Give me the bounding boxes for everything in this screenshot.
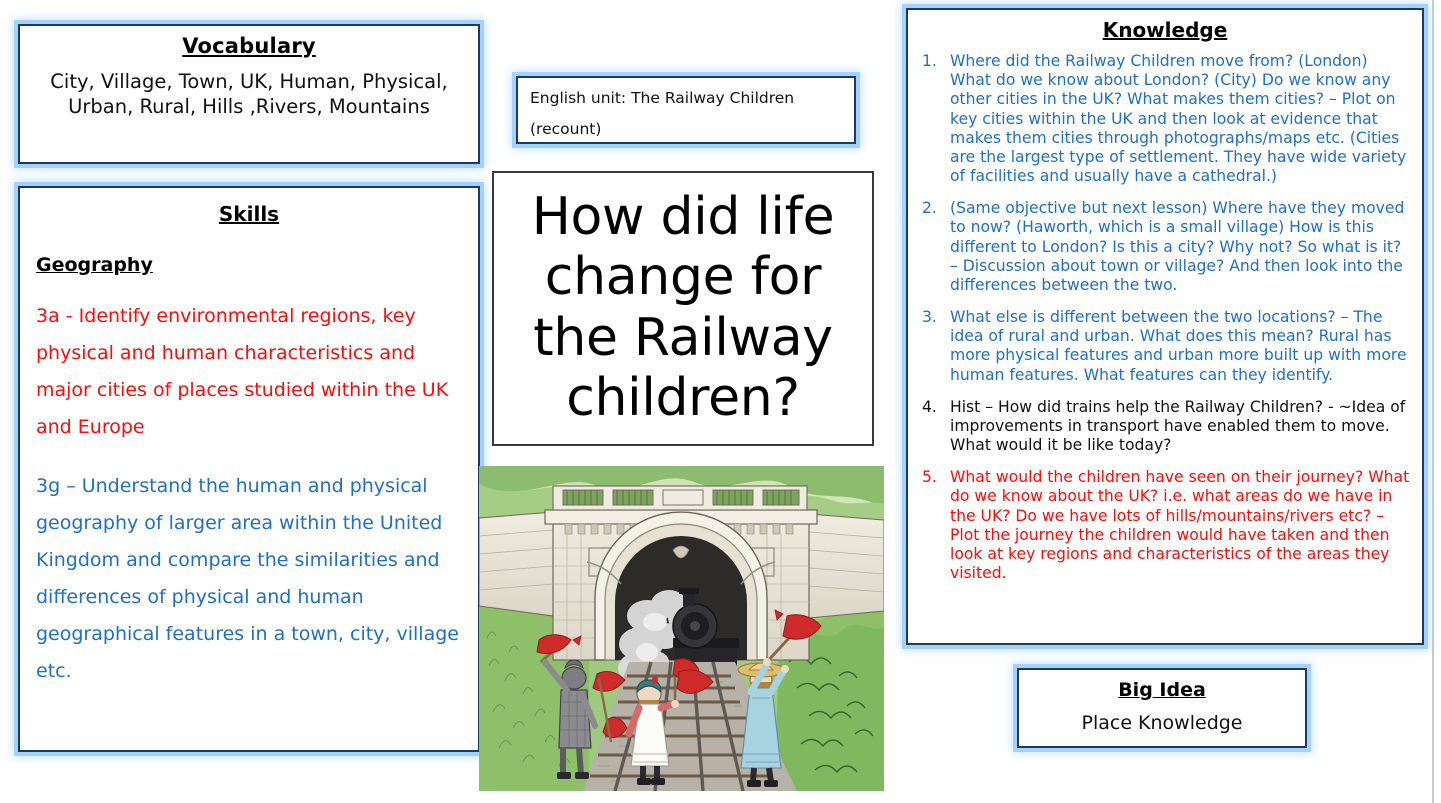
big-idea-panel: Big Idea Place Knowledge xyxy=(1017,668,1307,748)
big-idea-title: Big Idea xyxy=(1019,679,1305,701)
knowledge-item-5: 5. What would the children have seen on … xyxy=(920,468,1412,583)
knowledge-list: 1. Where did the Railway Children move f… xyxy=(908,52,1422,583)
knowledge-item-2-text: (Same objective but next lesson) Where h… xyxy=(950,199,1404,294)
vocabulary-panel: Vocabulary City, Village, Town, UK, Huma… xyxy=(18,24,480,164)
knowledge-item-3: 3. What else is different between the tw… xyxy=(920,308,1412,385)
knowledge-panel: Knowledge 1. Where did the Railway Child… xyxy=(906,8,1424,645)
enquiry-question-panel: How did life change for the Railway chil… xyxy=(492,171,874,446)
knowledge-item-5-text: What would the children have seen on the… xyxy=(950,468,1409,582)
big-idea-value: Place Knowledge xyxy=(1019,712,1305,734)
skills-subject-heading: Geography xyxy=(36,254,478,276)
english-unit-title: English unit: The Railway Children xyxy=(530,89,854,107)
skill-item-3a: 3a - Identify environmental regions, key… xyxy=(36,298,478,446)
skills-panel: Skills Geography 3a - Identify environme… xyxy=(18,186,480,752)
knowledge-item-1-text: Where did the Railway Children move from… xyxy=(950,52,1406,185)
railway-children-illustration xyxy=(479,466,884,791)
slide-canvas: Vocabulary City, Village, Town, UK, Huma… xyxy=(0,0,1441,803)
knowledge-item-3-text: What else is different between the two l… xyxy=(950,308,1407,384)
skill-item-3g: 3g – Understand the human and physical g… xyxy=(36,468,478,690)
knowledge-title: Knowledge xyxy=(908,18,1422,42)
skills-title: Skills xyxy=(20,202,478,226)
knowledge-item-5-number: 5. xyxy=(922,468,946,487)
vocabulary-terms: City, Village, Town, UK, Human, Physical… xyxy=(20,70,478,120)
knowledge-item-4-number: 4. xyxy=(922,398,946,417)
knowledge-item-2: 2. (Same objective but next lesson) Wher… xyxy=(920,199,1412,295)
knowledge-item-1-number: 1. xyxy=(922,52,946,71)
vocabulary-title: Vocabulary xyxy=(20,34,478,58)
enquiry-question-text: How did life change for the Railway chil… xyxy=(494,173,872,428)
english-unit-genre: (recount) xyxy=(530,120,854,138)
knowledge-item-3-number: 3. xyxy=(922,308,946,327)
english-unit-panel: English unit: The Railway Children (reco… xyxy=(516,76,856,144)
railway-tunnel-scene-icon xyxy=(479,466,884,791)
knowledge-item-4-text: Hist – How did trains help the Railway C… xyxy=(950,398,1405,454)
knowledge-item-2-number: 2. xyxy=(922,199,946,218)
slide-edge-divider xyxy=(1432,0,1434,803)
knowledge-item-4: 4. Hist – How did trains help the Railwa… xyxy=(920,398,1412,456)
knowledge-item-1: 1. Where did the Railway Children move f… xyxy=(920,52,1412,186)
